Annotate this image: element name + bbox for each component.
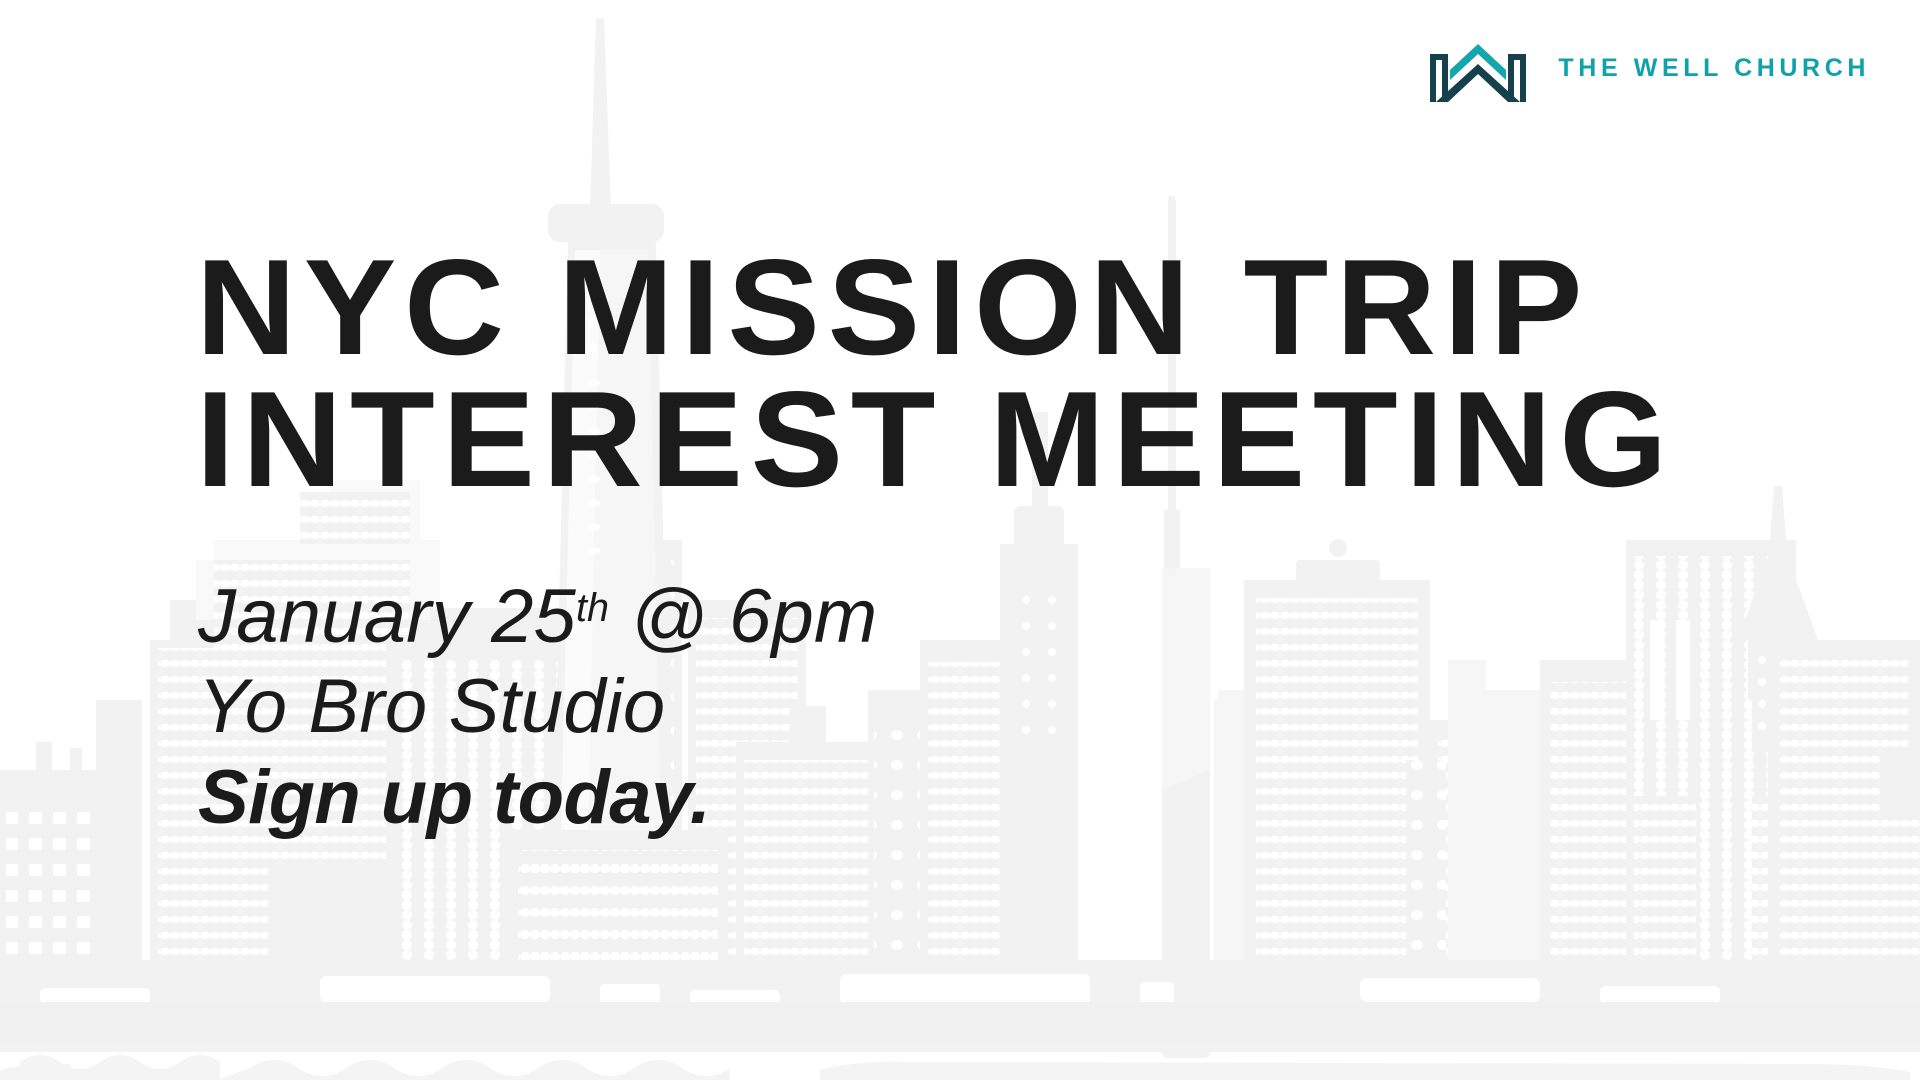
nyc-skyline-illustration [0, 0, 1920, 1080]
brand-logo-lockup[interactable]: THE WELL CHURCH [1428, 36, 1870, 102]
call-to-action: Sign up today. [198, 753, 1198, 843]
event-time-text: @ 6pm [609, 574, 877, 659]
event-location: Yo Bro Studio [198, 662, 1198, 752]
event-datetime: January 25th @ 6pm [198, 572, 1198, 662]
well-church-w-mark-icon [1428, 36, 1528, 102]
brand-wordmark: THE WELL CHURCH [1558, 56, 1870, 83]
date-ordinal-suffix: th [576, 586, 609, 630]
headline-line-1: NYC MISSION TRIP [196, 242, 1869, 374]
event-date-text: January 25 [198, 574, 576, 659]
page-title: NYC MISSION TRIP INTEREST MEETING [196, 242, 1869, 506]
event-details: January 25th @ 6pm Yo Bro Studio Sign up… [198, 572, 1198, 843]
poster-content: NYC MISSION TRIP INTEREST MEETING Januar… [0, 0, 1920, 1080]
headline-line-2: INTEREST MEETING [196, 374, 1869, 506]
poster-canvas: THE WELL CHURCH NYC MISSION TRIP INTERES… [0, 0, 1920, 1080]
